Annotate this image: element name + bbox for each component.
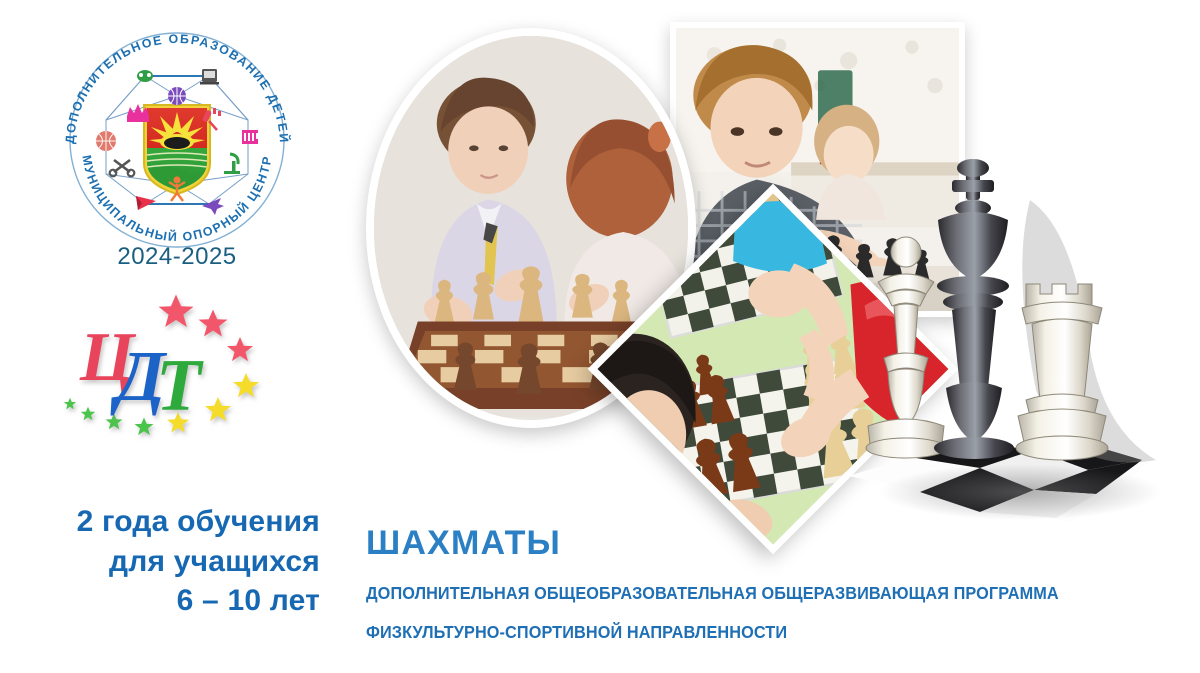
logo-icon-computer — [200, 69, 219, 85]
logo-icon-guitar — [242, 130, 258, 144]
lead-line-3: 6 – 10 лет — [8, 581, 320, 621]
photo-collage — [330, 0, 1200, 525]
program-headline: ШАХМАТЫ — [366, 524, 561, 563]
logo-icon-microscope — [224, 154, 240, 174]
logo-icon-globe — [96, 131, 116, 151]
poster-canvas: ДОПОЛНИТЕЛЬНОЕ ОБРАЗОВАНИЕ ДЕТЕЙ МУНИЦИП… — [0, 0, 1200, 673]
program-subtitle-line-1: ДОПОЛНИТЕЛЬНАЯ ОБЩЕОБРАЗОВАТЕЛЬНАЯ ОБЩЕР… — [366, 583, 1059, 604]
chess-pieces-illustration — [820, 140, 1180, 530]
logo-icon-robot — [137, 70, 153, 82]
cdt-monogram-logo: Ц Д Т — [58, 288, 298, 448]
svg-text:Т: Т — [156, 345, 204, 427]
program-duration-block: 2 года обучения для учащихся 6 – 10 лет — [8, 502, 320, 621]
academic-year-label: 2024-2025 — [52, 243, 302, 271]
logo-icon-scissors — [110, 160, 135, 176]
municipal-support-center-logo: ДОПОЛНИТЕЛЬНОЕ ОБРАЗОВАНИЕ ДЕТЕЙ МУНИЦИП… — [52, 28, 302, 250]
program-subtitle-line-2: ФИЗКУЛЬТУРНО-СПОРТИВНОЙ НАПРАВЛЕННОСТИ — [366, 622, 787, 643]
lead-line-2: для учащихся — [8, 542, 320, 582]
logo-icon-basketball — [168, 87, 186, 105]
lead-line-1: 2 года обучения — [8, 502, 320, 542]
white-queen-piece — [866, 237, 946, 458]
black-king-piece — [934, 159, 1014, 459]
cdt-letters: Ц Д Т — [79, 319, 204, 427]
